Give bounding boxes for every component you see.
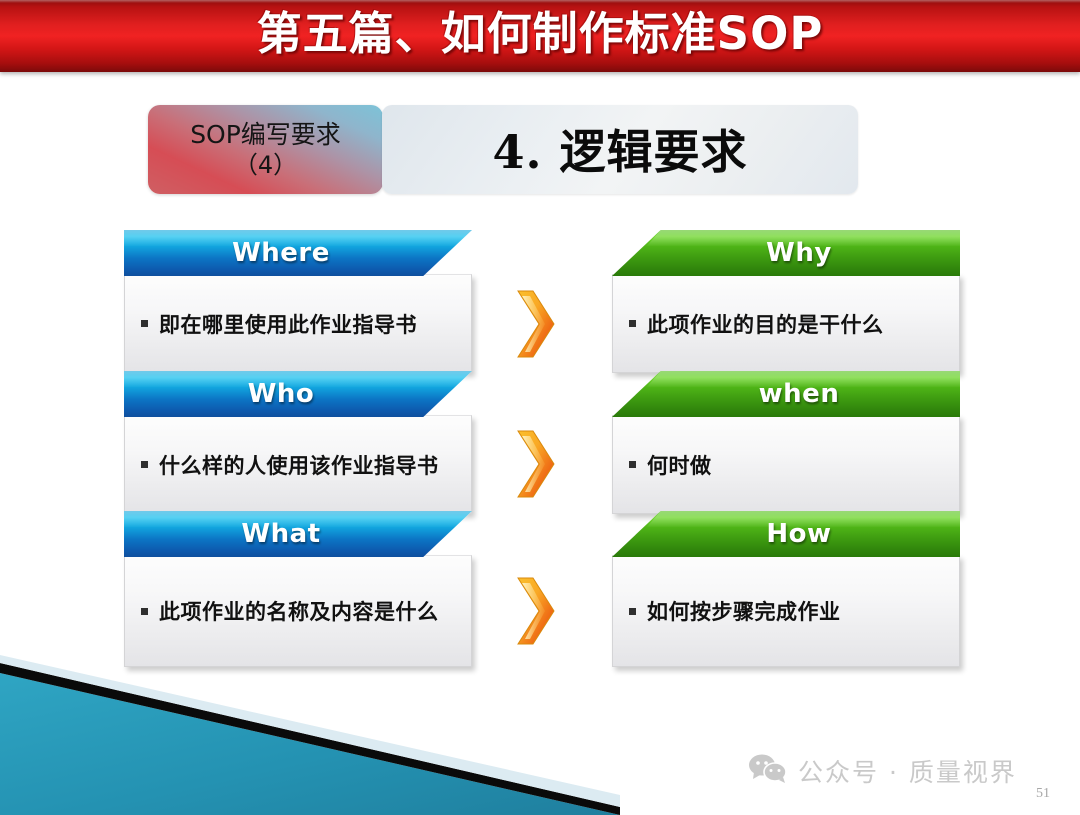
chevron-right-icon	[513, 575, 559, 647]
card-body-what: 此项作业的名称及内容是什么	[124, 555, 472, 667]
card-label: Who	[124, 371, 472, 417]
bullet-row: 此项作业的目的是干什么	[613, 309, 884, 339]
slide-canvas: 第五篇、如何制作标准SOP SOP编写要求 （4） 4. 逻辑要求 Where …	[0, 0, 1080, 815]
card-what: What 此项作业的名称及内容是什么	[124, 511, 472, 667]
bullet-row: 何时做	[613, 450, 712, 480]
bullet-square-icon	[141, 608, 148, 615]
card-label: How	[612, 511, 960, 557]
card-label: Why	[612, 230, 960, 276]
card-banner-why: Why	[612, 230, 960, 276]
card-how: How 如何按步骤完成作业	[612, 511, 960, 667]
card-body-why: 此项作业的目的是干什么	[612, 274, 960, 373]
watermark-text: 公众号 · 质量视界	[798, 753, 1017, 789]
card-text: 此项作业的目的是干什么	[647, 309, 884, 339]
card-body-where: 即在哪里使用此作业指导书	[124, 274, 472, 373]
bullet-row: 如何按步骤完成作业	[613, 596, 841, 626]
card-who: Who 什么样的人使用该作业指导书	[124, 371, 472, 514]
card-banner-who: Who	[124, 371, 472, 417]
card-why: Why 此项作业的目的是干什么	[612, 230, 960, 373]
bullet-square-icon	[141, 461, 148, 468]
wechat-icon	[748, 752, 788, 789]
bullet-square-icon	[629, 608, 636, 615]
bullet-square-icon	[629, 461, 636, 468]
card-text: 即在哪里使用此作业指导书	[159, 309, 417, 339]
bullet-square-icon	[629, 320, 636, 327]
card-when: when 何时做	[612, 371, 960, 514]
chevron-right-icon	[513, 428, 559, 500]
card-text: 何时做	[647, 450, 712, 480]
bullet-row: 即在哪里使用此作业指导书	[125, 309, 417, 339]
watermark: 公众号 · 质量视界	[748, 752, 1017, 789]
card-body-when: 何时做	[612, 415, 960, 514]
bullet-square-icon	[141, 320, 148, 327]
card-where: Where 即在哪里使用此作业指导书	[124, 230, 472, 373]
card-banner-when: when	[612, 371, 960, 417]
card-body-who: 什么样的人使用该作业指导书	[124, 415, 472, 514]
card-banner-where: Where	[124, 230, 472, 276]
bullet-row: 什么样的人使用该作业指导书	[125, 450, 439, 480]
chevron-right-icon	[513, 288, 559, 360]
card-label: What	[124, 511, 472, 557]
card-banner-how: How	[612, 511, 960, 557]
card-text: 如何按步骤完成作业	[647, 596, 841, 626]
card-label: Where	[124, 230, 472, 276]
card-grid: Where 即在哪里使用此作业指导书 Why 此项作业的目的是干什么	[0, 0, 1080, 815]
bullet-row: 此项作业的名称及内容是什么	[125, 596, 439, 626]
card-text: 什么样的人使用该作业指导书	[159, 450, 439, 480]
card-label: when	[612, 371, 960, 417]
page-number: 51	[1036, 786, 1050, 802]
card-body-how: 如何按步骤完成作业	[612, 555, 960, 667]
card-banner-what: What	[124, 511, 472, 557]
card-text: 此项作业的名称及内容是什么	[159, 596, 439, 626]
